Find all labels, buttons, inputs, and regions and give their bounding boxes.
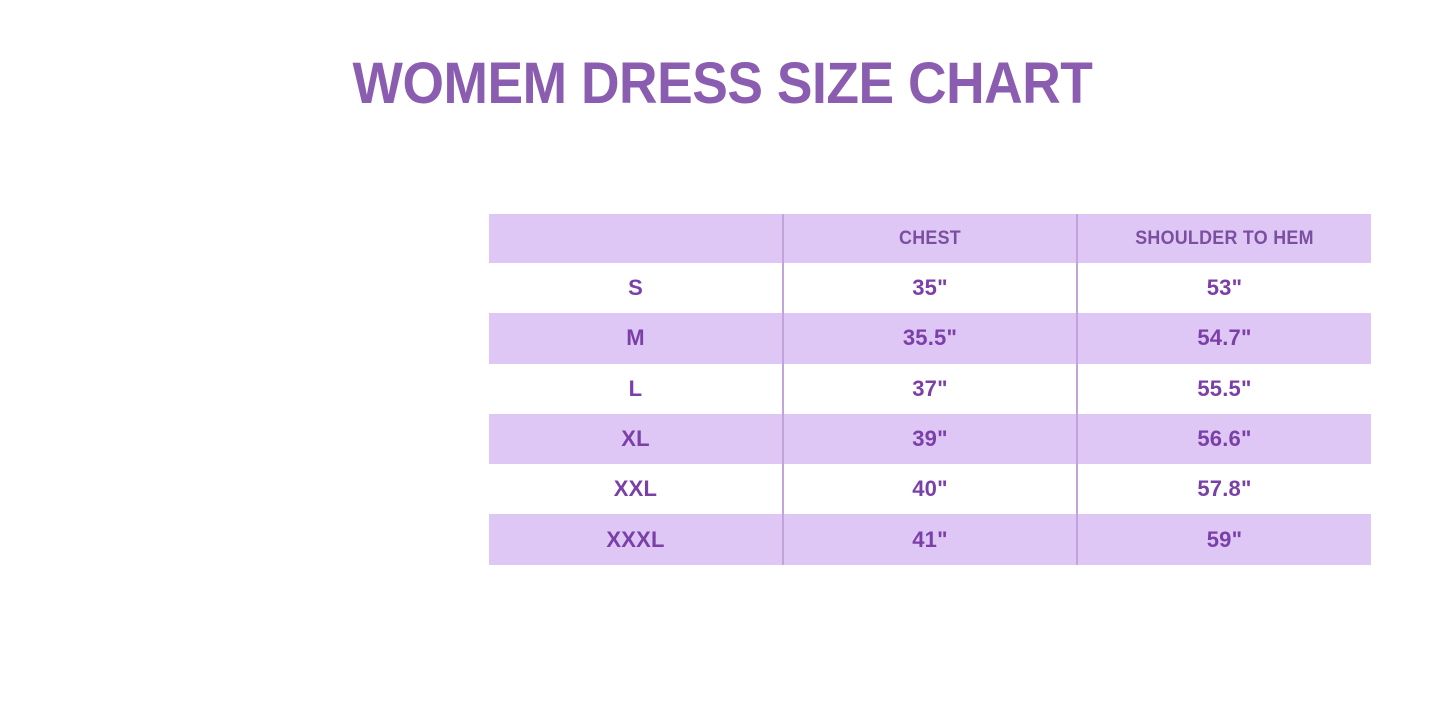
cell-size: XXXL <box>489 514 783 564</box>
cell-shoulder-to-hem: 59" <box>1077 514 1371 564</box>
cell-chest: 40" <box>783 464 1077 514</box>
cell-size: L <box>489 364 783 414</box>
table-row: XXXL 41" 59" <box>489 514 1371 564</box>
cell-size: XXL <box>489 464 783 514</box>
column-header-shoulder-to-hem: SHOULDER TO HEM <box>1086 214 1362 263</box>
cell-chest: 37" <box>783 364 1077 414</box>
table-row: L 37" 55.5" <box>489 364 1371 414</box>
cell-size: M <box>489 313 783 363</box>
cell-shoulder-to-hem: 55.5" <box>1077 364 1371 414</box>
page-title: WOMEM DRESS SIZE CHART <box>58 52 1387 116</box>
cell-shoulder-to-hem: 56.6" <box>1077 414 1371 464</box>
cell-chest: 41" <box>783 514 1077 564</box>
cell-chest: 35" <box>783 263 1077 313</box>
cell-chest: 39" <box>783 414 1077 464</box>
size-chart-page: WOMEM DRESS SIZE CHART CHEST SHOULDER TO… <box>0 0 1445 723</box>
column-header-size <box>498 214 774 263</box>
table-row: M 35.5" 54.7" <box>489 313 1371 363</box>
table-row: XXL 40" 57.8" <box>489 464 1371 514</box>
cell-shoulder-to-hem: 53" <box>1077 263 1371 313</box>
column-header-chest: CHEST <box>792 214 1068 263</box>
table-row: S 35" 53" <box>489 263 1371 313</box>
size-chart-table-container: CHEST SHOULDER TO HEM S 35" 53" M 35.5" … <box>489 214 1371 566</box>
table-header: CHEST SHOULDER TO HEM <box>489 214 1371 263</box>
cell-size: S <box>489 263 783 313</box>
table-row: XL 39" 56.6" <box>489 414 1371 464</box>
cell-chest: 35.5" <box>783 313 1077 363</box>
cell-size: XL <box>489 414 783 464</box>
cell-shoulder-to-hem: 57.8" <box>1077 464 1371 514</box>
size-chart-table: CHEST SHOULDER TO HEM S 35" 53" M 35.5" … <box>489 214 1371 565</box>
cell-shoulder-to-hem: 54.7" <box>1077 313 1371 363</box>
table-header-row: CHEST SHOULDER TO HEM <box>489 214 1371 263</box>
table-body: S 35" 53" M 35.5" 54.7" L 37" 55.5" XL 3… <box>489 263 1371 565</box>
